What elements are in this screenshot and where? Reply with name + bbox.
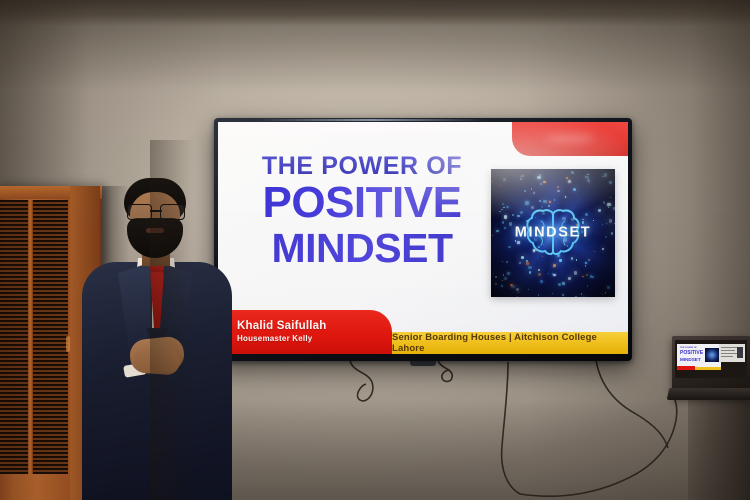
laptop-slide-red-bar <box>677 366 695 370</box>
slide-footer-org-band: Senior Boarding Houses | Aitchison Colle… <box>392 332 628 354</box>
laptop-notes-pane[interactable] <box>719 344 745 362</box>
laptop-screen[interactable]: THE POWER OF POSITIVE MINDSET <box>675 340 747 378</box>
cabinet-louver-panel <box>0 200 68 474</box>
note-line <box>721 347 737 348</box>
laptop-keyboard-base <box>667 388 750 400</box>
lens-left <box>127 204 152 220</box>
laptop-slide-line-1: THE POWER OF <box>680 347 697 349</box>
slide-title-line-3: MINDSET <box>236 227 488 270</box>
note-line <box>721 353 738 354</box>
note-line <box>721 350 735 351</box>
brain-artwork: MINDSET <box>491 169 615 297</box>
presenter-wall-shadow <box>150 140 194 500</box>
laptop-slide-artwork <box>705 348 719 362</box>
laptop-slide-gold-bar <box>695 367 721 370</box>
cabinet-center-stile <box>28 200 33 474</box>
speaker-name: Khalid Saifullah <box>237 320 326 332</box>
slide-corner-accent-red <box>512 122 628 156</box>
tv-bezel-glint <box>256 119 486 121</box>
slide-footer-speaker-block: Khalid Saifullah Housemaster Kelly <box>218 310 392 354</box>
tv-bottom-mount <box>410 361 436 366</box>
slide-title-group: THE POWER OF POSITIVE MINDSET <box>236 154 488 270</box>
note-line <box>721 356 733 357</box>
artwork-vignette <box>491 169 615 297</box>
slide-title-line-2: POSITIVE <box>236 181 488 226</box>
screenshot-root: THE POWER OF POSITIVE MINDSET <box>0 0 750 500</box>
note-thumbnail <box>737 347 743 358</box>
cabinet-handle-icon <box>66 336 70 352</box>
speaker-role: Housemaster Kelly <box>237 334 312 343</box>
laptop-slide-line-3: MINDSET <box>680 357 701 362</box>
presenter-view-laptop[interactable]: THE POWER OF POSITIVE MINDSET <box>672 336 750 398</box>
laptop-slide-line-2: POSITIVE <box>680 351 703 357</box>
slide-title-line-1: THE POWER OF <box>236 154 488 179</box>
organization-line: Senior Boarding Houses | Aitchison Colle… <box>392 332 628 354</box>
right-dark-furniture <box>688 392 750 500</box>
television[interactable]: THE POWER OF POSITIVE MINDSET <box>214 118 632 361</box>
presentation-slide[interactable]: THE POWER OF POSITIVE MINDSET <box>218 122 628 354</box>
laptop-slide-preview: THE POWER OF POSITIVE MINDSET <box>677 344 721 370</box>
